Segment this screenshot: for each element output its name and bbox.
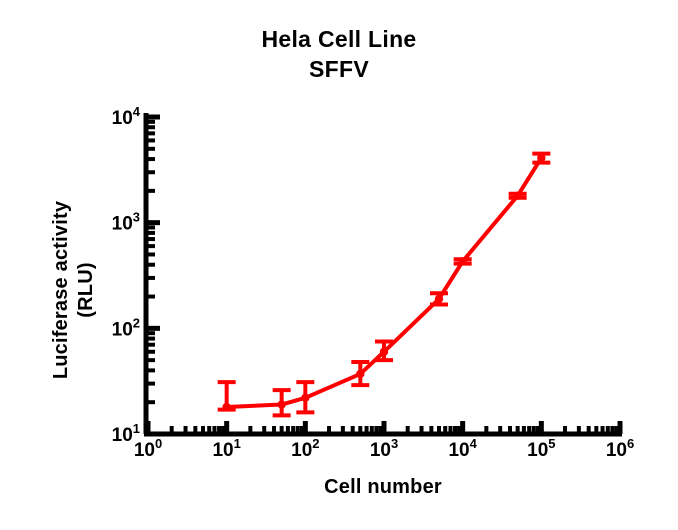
x-tick-label: 105 (527, 436, 555, 461)
data-point (380, 348, 388, 356)
x-tick-label: 102 (291, 436, 319, 461)
plot-area: 101102103104 100101102103104105106 (0, 0, 678, 530)
data-point (458, 257, 466, 265)
chart-figure: Hela Cell Line SFFV Luciferase activity … (0, 0, 678, 530)
data-point (356, 370, 364, 378)
data-point (277, 400, 285, 408)
error-bars (218, 154, 551, 416)
x-tick-label: 103 (370, 436, 398, 461)
data-point (301, 394, 309, 402)
data-point (513, 191, 521, 199)
x-axis-tick-labels: 100101102103104105106 (134, 436, 634, 461)
x-tick-label: 104 (448, 436, 477, 461)
data-point (222, 403, 230, 411)
x-tick-label: 101 (212, 436, 240, 461)
x-tick-label: 106 (606, 436, 634, 461)
data-points (222, 154, 545, 412)
y-axis-tick-labels: 101102103104 (112, 104, 141, 446)
x-tick-label: 100 (134, 436, 162, 461)
y-tick-label: 103 (112, 210, 140, 235)
data-line (227, 158, 542, 407)
y-tick-label: 102 (112, 315, 140, 340)
data-point (435, 295, 443, 303)
y-tick-label: 104 (112, 104, 141, 129)
data-point (537, 154, 545, 162)
